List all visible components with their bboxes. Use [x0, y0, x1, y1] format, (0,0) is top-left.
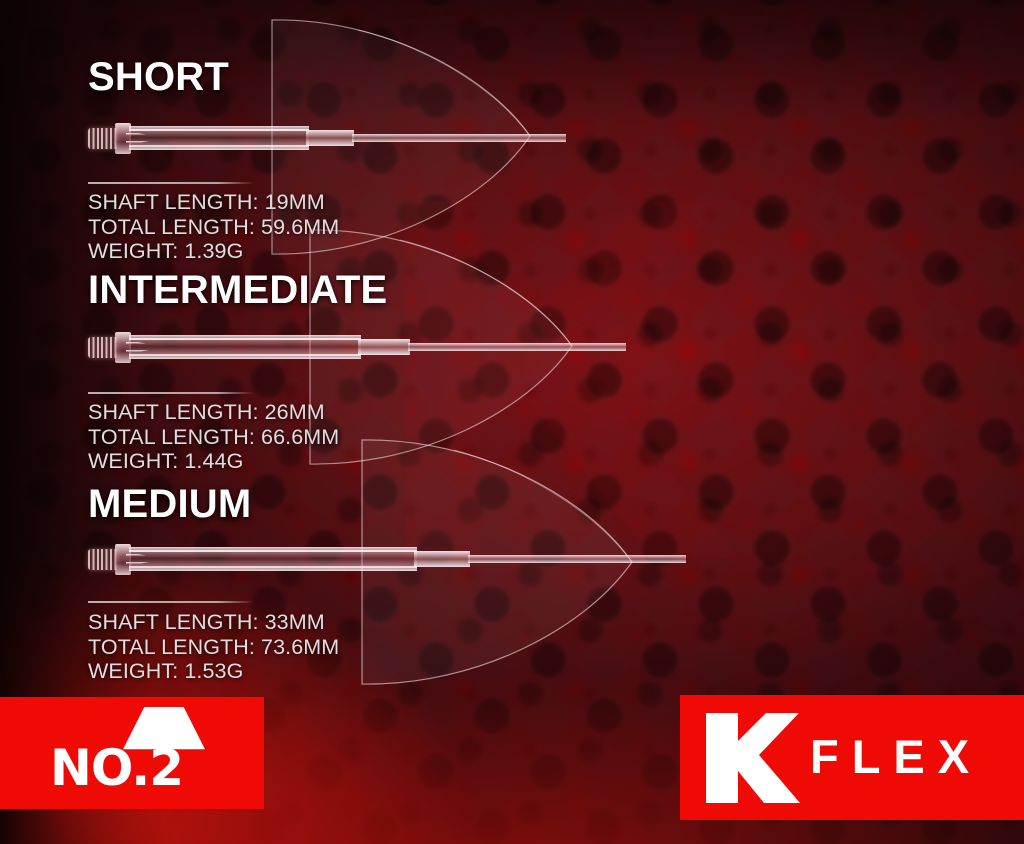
- shaft-barrel-intermediate: [129, 335, 361, 359]
- shaft-barrel-short: [129, 126, 309, 150]
- shaft-thread-short: [88, 128, 118, 149]
- spec-list-short: SHAFT LENGTH: 19MM TOTAL LENGTH: 59.6MM …: [88, 190, 339, 264]
- spec-total-length-short: TOTAL LENGTH: 59.6MM: [88, 215, 339, 240]
- section-title-intermediate: INTERMEDIATE: [88, 270, 387, 310]
- spec-shaft-length-short: SHAFT LENGTH: 19MM: [88, 190, 339, 215]
- spec-shaft-length-intermediate: SHAFT LENGTH: 26MM: [88, 400, 339, 425]
- kflex-logo-bar: FLEX: [680, 695, 1024, 820]
- divider-intermediate: [88, 392, 254, 394]
- spec-list-intermediate: SHAFT LENGTH: 26MM TOTAL LENGTH: 66.6MM …: [88, 400, 339, 474]
- spec-weight-medium: WEIGHT: 1.53G: [88, 659, 339, 684]
- spec-total-length-medium: TOTAL LENGTH: 73.6MM: [88, 635, 339, 660]
- shaft-joint-intermediate: [358, 339, 410, 355]
- divider-short: [88, 182, 254, 184]
- shaft-barrel-medium: [129, 547, 417, 571]
- dart-shaft-short: [88, 121, 568, 155]
- shaft-joint-medium: [414, 551, 470, 567]
- kflex-wordmark: FLEX: [810, 733, 982, 780]
- divider-medium: [88, 601, 254, 603]
- section-title-short: SHORT: [88, 57, 229, 97]
- spec-weight-intermediate: WEIGHT: 1.44G: [88, 449, 339, 474]
- shaft-thread-intermediate: [88, 337, 118, 358]
- kflex-k-mark-icon: [704, 711, 800, 805]
- shaft-thread-medium: [88, 549, 118, 570]
- dart-shaft-intermediate: [88, 330, 628, 364]
- shaft-stem-medium: [468, 555, 686, 563]
- shaft-stem-intermediate: [408, 343, 626, 351]
- no2-logo: NO.2: [50, 707, 226, 799]
- shaft-joint-short: [306, 130, 354, 146]
- spec-list-medium: SHAFT LENGTH: 33MM TOTAL LENGTH: 73.6MM …: [88, 610, 339, 684]
- no2-logo-bar: NO.2: [0, 697, 264, 809]
- product-infographic: K: [0, 0, 1024, 844]
- shaft-stem-short: [352, 134, 566, 142]
- spec-total-length-intermediate: TOTAL LENGTH: 66.6MM: [88, 425, 339, 450]
- spec-shaft-length-medium: SHAFT LENGTH: 33MM: [88, 610, 339, 635]
- section-title-medium: MEDIUM: [88, 484, 251, 524]
- dart-shaft-medium: [88, 542, 688, 576]
- no2-logo-label: NO.2: [50, 743, 183, 793]
- spec-weight-short: WEIGHT: 1.39G: [88, 239, 339, 264]
